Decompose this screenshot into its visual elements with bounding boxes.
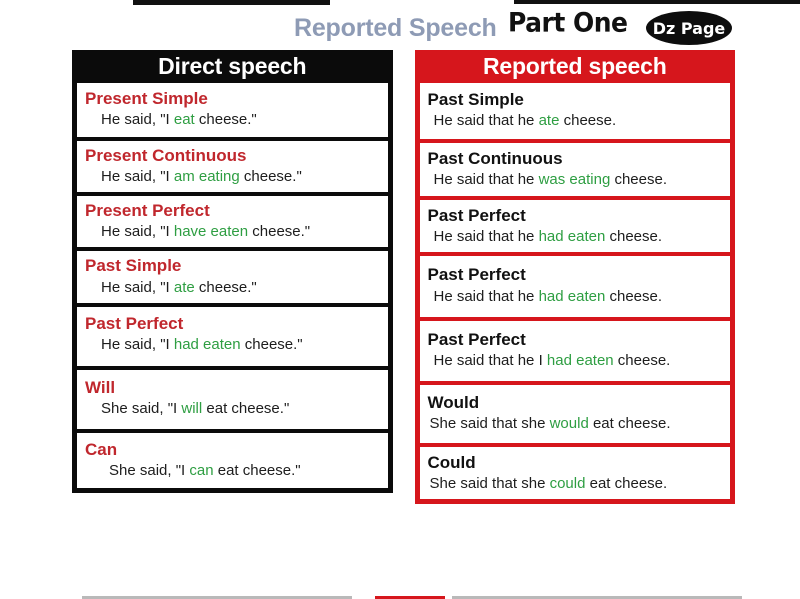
table-row: Past ContinuousHe said that he was eatin… (420, 139, 731, 196)
page-title: Reported Speech (294, 14, 497, 43)
example-sentence: He said that he had eaten cheese. (428, 287, 725, 307)
example-sentence: He said, "I ate cheese." (85, 278, 382, 298)
tense-label: Present Continuous (85, 145, 382, 166)
brand-badge: Dz Page (646, 11, 732, 45)
sentence-suffix: cheese. (605, 288, 662, 305)
sentence-prefix: He said that he (434, 288, 539, 305)
sentence-suffix: eat cheese. (585, 475, 667, 492)
sentence-prefix: She said, "I (109, 462, 189, 479)
highlighted-verb: had eaten (547, 352, 614, 369)
table-row: Past SimpleHe said, "I ate cheese." (77, 247, 388, 303)
tense-label: Will (85, 377, 382, 398)
example-sentence: He said, "I had eaten cheese." (85, 335, 382, 355)
sentence-prefix: She said, "I (101, 400, 181, 417)
highlighted-verb: could (550, 475, 586, 492)
table-row: WillShe said, "I will eat cheese." (77, 366, 388, 429)
highlighted-verb: ate (174, 279, 195, 296)
tense-label: Would (428, 392, 725, 413)
sentence-suffix: cheese." (240, 168, 302, 185)
table-row: Present PerfectHe said, "I have eaten ch… (77, 192, 388, 248)
highlighted-verb: would (550, 415, 589, 432)
example-sentence: She said that she would eat cheese. (428, 414, 725, 434)
sentence-suffix: cheese. (614, 352, 671, 369)
sentence-prefix: He said that he (434, 228, 539, 245)
tense-label: Past Perfect (428, 205, 725, 226)
column-reported-speech: Reported speech Past SimpleHe said that … (415, 50, 736, 504)
top-decorative-bar-right (514, 0, 800, 4)
highlighted-verb: had eaten (539, 228, 606, 245)
example-sentence: She said, "I can eat cheese." (85, 461, 382, 481)
example-sentence: He said, "I eat cheese." (85, 110, 382, 130)
example-sentence: He said that he ate cheese. (428, 111, 725, 131)
reported-speech-table: Direct speech Present SimpleHe said, "I … (0, 50, 800, 504)
highlighted-verb: was eating (539, 171, 611, 188)
table-row: CanShe said, "I can eat cheese." (77, 429, 388, 489)
tense-label: Can (85, 439, 382, 460)
page-header: Reported Speech Part One Dz Page (0, 6, 800, 48)
table-row: Present SimpleHe said, "I eat cheese." (77, 83, 388, 137)
sentence-suffix: cheese. (605, 228, 662, 245)
sentence-suffix: cheese." (241, 336, 303, 353)
example-sentence: He said that he had eaten cheese. (428, 227, 725, 247)
sentence-prefix: He said, "I (101, 223, 174, 240)
tense-label: Past Continuous (428, 148, 725, 169)
sentence-prefix: He said that he (434, 171, 539, 188)
highlighted-verb: will (181, 400, 202, 417)
tense-label: Could (428, 452, 725, 473)
sentence-prefix: He said that he I (434, 352, 547, 369)
column-body-direct-speech: Present SimpleHe said, "I eat cheese."Pr… (72, 83, 393, 493)
top-decorative-bar-left (133, 0, 330, 5)
tense-label: Present Perfect (85, 200, 382, 221)
column-body-reported-speech: Past SimpleHe said that he ate cheese.Pa… (415, 83, 736, 504)
sentence-suffix: cheese." (248, 223, 310, 240)
highlighted-verb: can (189, 462, 213, 479)
highlighted-verb: have eaten (174, 223, 248, 240)
sentence-suffix: cheese." (195, 279, 257, 296)
sentence-suffix: eat cheese." (214, 462, 301, 479)
sentence-prefix: She said that she (430, 415, 550, 432)
table-row: Past SimpleHe said that he ate cheese. (420, 83, 731, 139)
column-direct-speech: Direct speech Present SimpleHe said, "I … (72, 50, 393, 504)
sentence-prefix: He said that he (434, 112, 539, 129)
highlighted-verb: ate (539, 112, 560, 129)
tense-label: Past Simple (428, 89, 725, 110)
tense-label: Past Perfect (85, 313, 382, 334)
sentence-suffix: cheese. (610, 171, 667, 188)
tense-label: Past Simple (85, 255, 382, 276)
sentence-suffix: cheese. (559, 112, 616, 129)
sentence-suffix: eat cheese." (202, 400, 289, 417)
highlighted-verb: am eating (174, 168, 240, 185)
sentence-prefix: She said that she (430, 475, 550, 492)
sentence-suffix: eat cheese. (589, 415, 671, 432)
table-row: Past PerfectHe said, "I had eaten cheese… (77, 303, 388, 366)
sentence-prefix: He said, "I (101, 111, 174, 128)
sentence-prefix: He said, "I (101, 279, 174, 296)
example-sentence: She said, "I will eat cheese." (85, 399, 382, 419)
table-row: WouldShe said that she would eat cheese. (420, 381, 731, 443)
example-sentence: She said that she could eat cheese. (428, 474, 725, 494)
highlighted-verb: had eaten (539, 288, 606, 305)
part-label: Part One (508, 7, 628, 38)
table-row: Past PerfectHe said that he had eaten ch… (420, 252, 731, 317)
tense-label: Present Simple (85, 88, 382, 109)
example-sentence: He said that he I had eaten cheese. (428, 351, 725, 371)
table-row: Present ContinuousHe said, "I am eating … (77, 137, 388, 192)
sentence-suffix: cheese." (195, 111, 257, 128)
example-sentence: He said, "I have eaten cheese." (85, 222, 382, 242)
example-sentence: He said that he was eating cheese. (428, 170, 725, 190)
sentence-prefix: He said, "I (101, 336, 174, 353)
table-row: Past PerfectHe said that he had eaten ch… (420, 196, 731, 253)
example-sentence: He said, "I am eating cheese." (85, 167, 382, 187)
sentence-prefix: He said, "I (101, 168, 174, 185)
tense-label: Past Perfect (428, 264, 725, 285)
column-header-reported-speech: Reported speech (415, 50, 736, 83)
highlighted-verb: eat (174, 111, 195, 128)
table-row: Past PerfectHe said that he I had eaten … (420, 317, 731, 381)
table-row: CouldShe said that she could eat cheese. (420, 443, 731, 500)
tense-label: Past Perfect (428, 329, 725, 350)
highlighted-verb: had eaten (174, 336, 241, 353)
column-header-direct-speech: Direct speech (72, 50, 393, 83)
